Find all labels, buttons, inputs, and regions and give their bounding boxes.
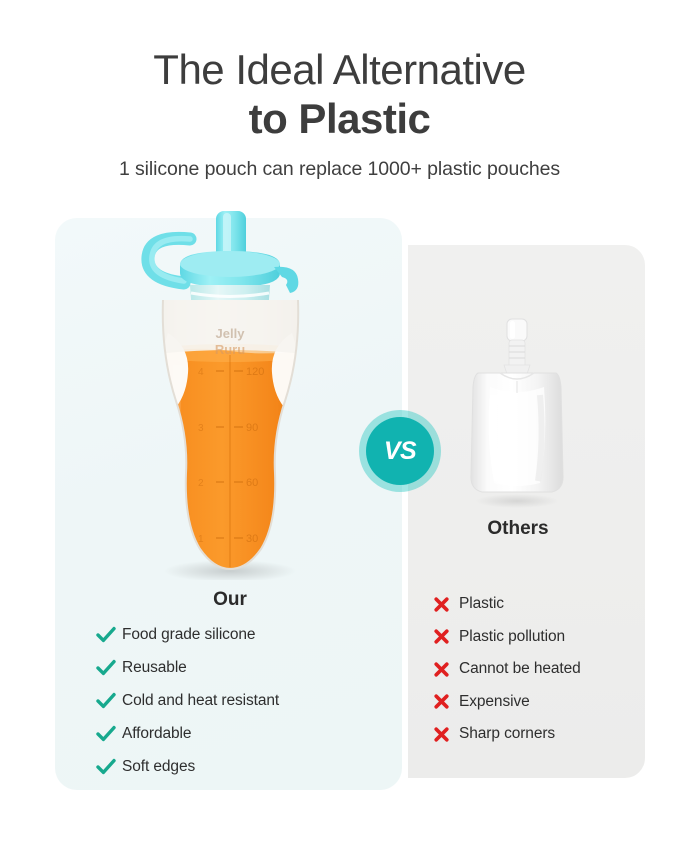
list-item-label: Reusable (122, 659, 187, 677)
page-title-line1: The Ideal Alternative (0, 0, 679, 93)
list-item-label: Soft edges (122, 758, 195, 776)
check-icon (96, 659, 122, 676)
svg-text:90: 90 (246, 422, 258, 434)
silicone-pouch-bottle-image: 120 90 60 30 4 3 2 1 (128, 205, 333, 580)
cross-icon (433, 661, 459, 678)
check-icon (96, 758, 122, 775)
list-item: Expensive (433, 686, 581, 719)
check-icon (96, 692, 122, 709)
list-item: Plastic (433, 588, 581, 621)
list-item-label: Affordable (122, 725, 191, 743)
check-icon (96, 725, 122, 742)
others-feature-list: Plastic Plastic pollution Cannot be heat… (433, 588, 581, 751)
list-item: Cannot be heated (433, 653, 581, 686)
list-item: Reusable (96, 651, 279, 684)
list-item-label: Sharp corners (459, 725, 555, 743)
svg-text:Jelly: Jelly (216, 326, 246, 341)
our-column-heading: Our (150, 589, 310, 611)
svg-text:1: 1 (198, 534, 204, 545)
list-item-label: Plastic pollution (459, 628, 565, 646)
vs-badge: VS (366, 417, 434, 485)
list-item: Affordable (96, 717, 279, 750)
cross-icon (433, 693, 459, 710)
vs-label: VS (384, 437, 416, 466)
svg-text:4: 4 (198, 367, 204, 378)
svg-text:3: 3 (198, 423, 204, 434)
list-item: Soft edges (96, 750, 279, 783)
list-item-label: Cold and heat resistant (122, 692, 279, 710)
list-item: Food grade silicone (96, 618, 279, 651)
cross-icon (433, 596, 459, 613)
header: The Ideal Alternative to Plastic 1 silic… (0, 0, 679, 181)
others-column-heading: Others (438, 518, 598, 540)
cross-icon (433, 726, 459, 743)
page-subtitle: 1 silicone pouch can replace 1000+ plast… (0, 142, 679, 181)
list-item-label: Plastic (459, 595, 504, 613)
list-item: Sharp corners (433, 718, 581, 751)
list-item-label: Cannot be heated (459, 660, 581, 678)
check-icon (96, 626, 122, 643)
svg-text:120: 120 (246, 366, 264, 378)
cross-icon (433, 628, 459, 645)
our-feature-list: Food grade silicone Reusable Cold and he… (96, 618, 279, 783)
list-item-label: Food grade silicone (122, 626, 255, 644)
svg-text:30: 30 (246, 533, 258, 545)
plastic-spout-pouch-image (460, 315, 575, 510)
svg-text:2: 2 (198, 478, 204, 489)
svg-text:60: 60 (246, 477, 258, 489)
list-item: Plastic pollution (433, 621, 581, 654)
list-item-label: Expensive (459, 693, 530, 711)
page-title-line2: to Plastic (0, 93, 679, 142)
list-item: Cold and heat resistant (96, 684, 279, 717)
svg-text:Ruru: Ruru (215, 342, 245, 357)
